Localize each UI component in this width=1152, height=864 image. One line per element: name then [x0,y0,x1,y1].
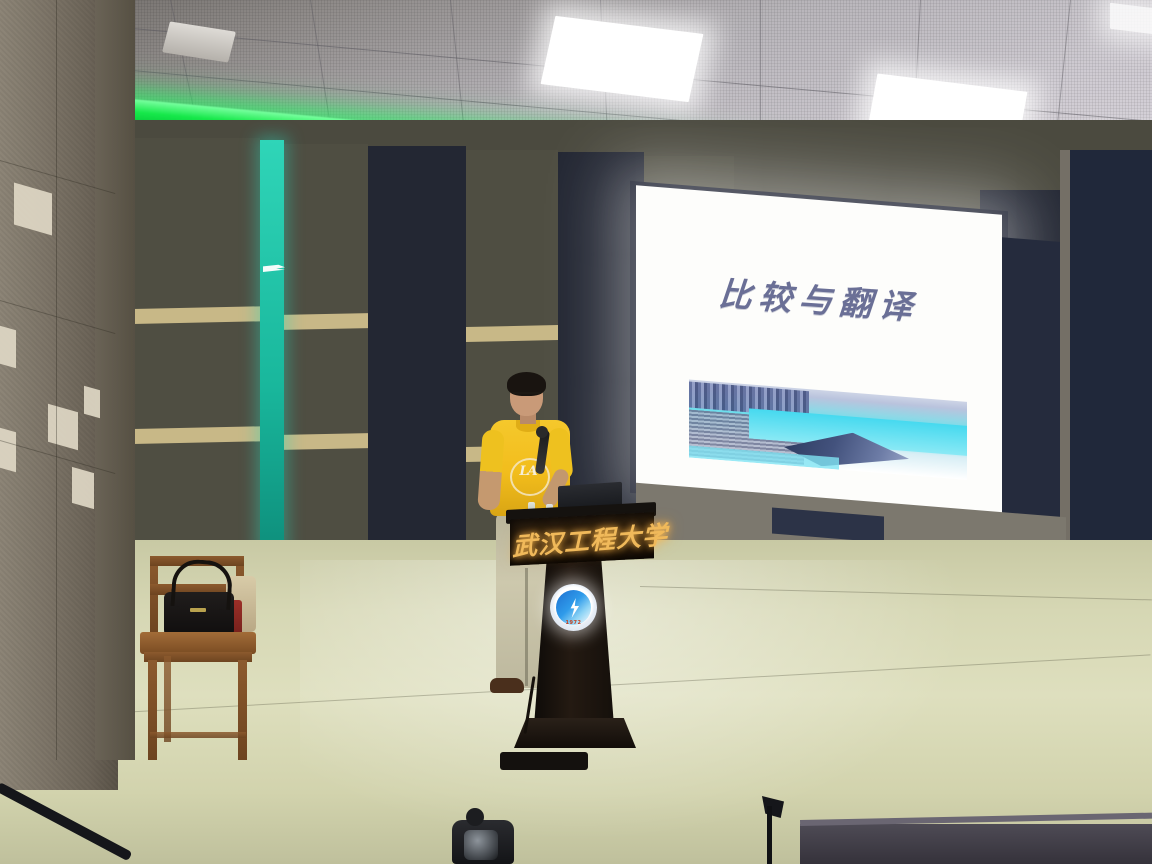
equipment-table [800,824,1152,864]
wall-seam [0,300,115,334]
wall-accent-tile [0,428,16,473]
chair-leg-front-right [238,660,247,760]
microphone-stand-pole [767,806,772,864]
emblem-bolt-icon [568,598,581,618]
wall-panel-olive [282,144,368,550]
lecture-hall-photo: 比较与翻译 [0,0,1152,864]
wall-panel-far-right [1070,150,1152,550]
chair-back-left-post [150,556,158,634]
chair-stretcher [150,732,246,738]
emblem-year: 1972 [550,620,597,626]
wall-accent-tile [48,404,78,451]
camera-lens-icon [464,830,498,860]
wall-stripe [466,325,558,342]
handbag-clasp [190,608,206,612]
floor-reflection [300,560,1000,860]
glasses-icon [512,392,541,400]
chair-apron [144,652,252,662]
chair-leg-back-left [164,656,171,742]
wall-accent-tile [72,467,94,509]
slide-photo [689,380,967,480]
wall-accent-tile [14,183,52,236]
university-emblem: 1972 [550,584,597,631]
wall-seam [56,0,57,760]
microphone-stand [762,796,776,864]
slide-title: 比较与翻译 [636,261,1002,334]
wall-seam [0,440,115,474]
camera-knob [466,808,484,826]
wall-stripe [282,433,368,450]
wall-accent-tile [84,386,100,419]
wall-accent-tile [0,326,16,369]
left-wall-tiles [0,0,140,800]
chair-leg-front-left [148,660,157,760]
equipment-case [500,752,588,770]
wall-stripe [282,313,368,330]
projection-screen[interactable]: 比较与翻译 [636,185,1002,514]
chair-seat [140,632,256,654]
column-logo-mark [263,260,285,276]
illuminated-column [260,140,284,550]
wooden-chair[interactable] [140,556,260,764]
lectern[interactable]: 1972 武汉工程大学 [506,506,624,764]
microphone-head [536,426,548,438]
foreground-camera [452,806,518,864]
lectern-base [514,718,636,748]
wall-panel-dark [368,146,466,550]
